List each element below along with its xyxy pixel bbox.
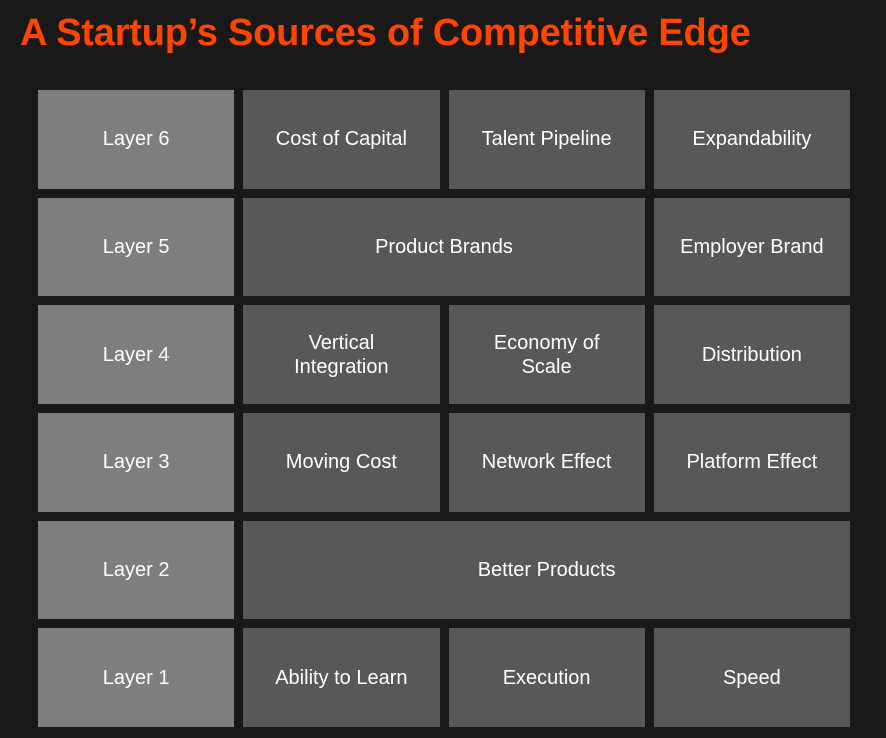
matrix-item-text: Cost of Capital	[276, 127, 407, 151]
matrix-item-text: Moving Cost	[286, 450, 397, 474]
matrix-item-text: Talent Pipeline	[482, 127, 612, 151]
matrix-item-cell[interactable]: Cost of Capital	[243, 90, 439, 189]
matrix-item-cell[interactable]: Ability to Learn	[243, 628, 439, 727]
matrix-item-text: Network Effect	[482, 450, 612, 474]
layer-label-cell: Layer 1	[38, 628, 234, 727]
matrix-item-text: Product Brands	[375, 235, 513, 259]
slide-canvas: A Startup’s Sources of Competitive Edge …	[0, 0, 886, 738]
matrix-item-text: Execution	[503, 666, 591, 690]
layer-label-text: Layer 2	[103, 558, 170, 582]
layer-label-cell: Layer 6	[38, 90, 234, 189]
matrix-item-cell[interactable]: Network Effect	[449, 413, 645, 512]
matrix-item-cell[interactable]: Speed	[654, 628, 850, 727]
matrix-item-text: Better Products	[478, 558, 616, 582]
layer-label-cell: Layer 3	[38, 413, 234, 512]
matrix-item-cell[interactable]: Execution	[449, 628, 645, 727]
page-title: A Startup’s Sources of Competitive Edge	[20, 7, 870, 59]
layer-label-cell: Layer 4	[38, 305, 234, 404]
matrix-item-cell[interactable]: Economy of Scale	[449, 305, 645, 404]
matrix-item-text: Economy of Scale	[494, 331, 600, 379]
matrix-item-text: Speed	[723, 666, 781, 690]
layer-label-text: Layer 3	[103, 450, 170, 474]
matrix-item-text: Employer Brand	[680, 235, 823, 259]
matrix-item-text: Distribution	[702, 343, 802, 367]
matrix-item-text: Platform Effect	[686, 450, 817, 474]
matrix-item-cell[interactable]: Vertical Integration	[243, 305, 439, 404]
layer-label-cell: Layer 5	[38, 198, 234, 297]
matrix-item-text: Expandability	[692, 127, 811, 151]
matrix-item-cell[interactable]: Moving Cost	[243, 413, 439, 512]
matrix-item-cell[interactable]: Expandability	[654, 90, 850, 189]
layer-label-text: Layer 1	[103, 666, 170, 690]
layer-label-text: Layer 5	[103, 235, 170, 259]
layer-label-text: Layer 4	[103, 343, 170, 367]
matrix-item-cell[interactable]: Distribution	[654, 305, 850, 404]
matrix-item-cell[interactable]: Employer Brand	[654, 198, 850, 297]
layer-label-cell: Layer 2	[38, 521, 234, 620]
matrix-item-cell[interactable]: Talent Pipeline	[449, 90, 645, 189]
matrix-item-text: Ability to Learn	[275, 666, 407, 690]
matrix-item-cell[interactable]: Better Products	[243, 521, 850, 620]
matrix-item-cell[interactable]: Product Brands	[243, 198, 645, 297]
layer-label-text: Layer 6	[103, 127, 170, 151]
matrix-item-cell[interactable]: Platform Effect	[654, 413, 850, 512]
matrix-item-text: Vertical Integration	[294, 331, 389, 379]
competitive-edge-matrix: Layer 6 Cost of Capital Talent Pipeline …	[38, 90, 850, 727]
